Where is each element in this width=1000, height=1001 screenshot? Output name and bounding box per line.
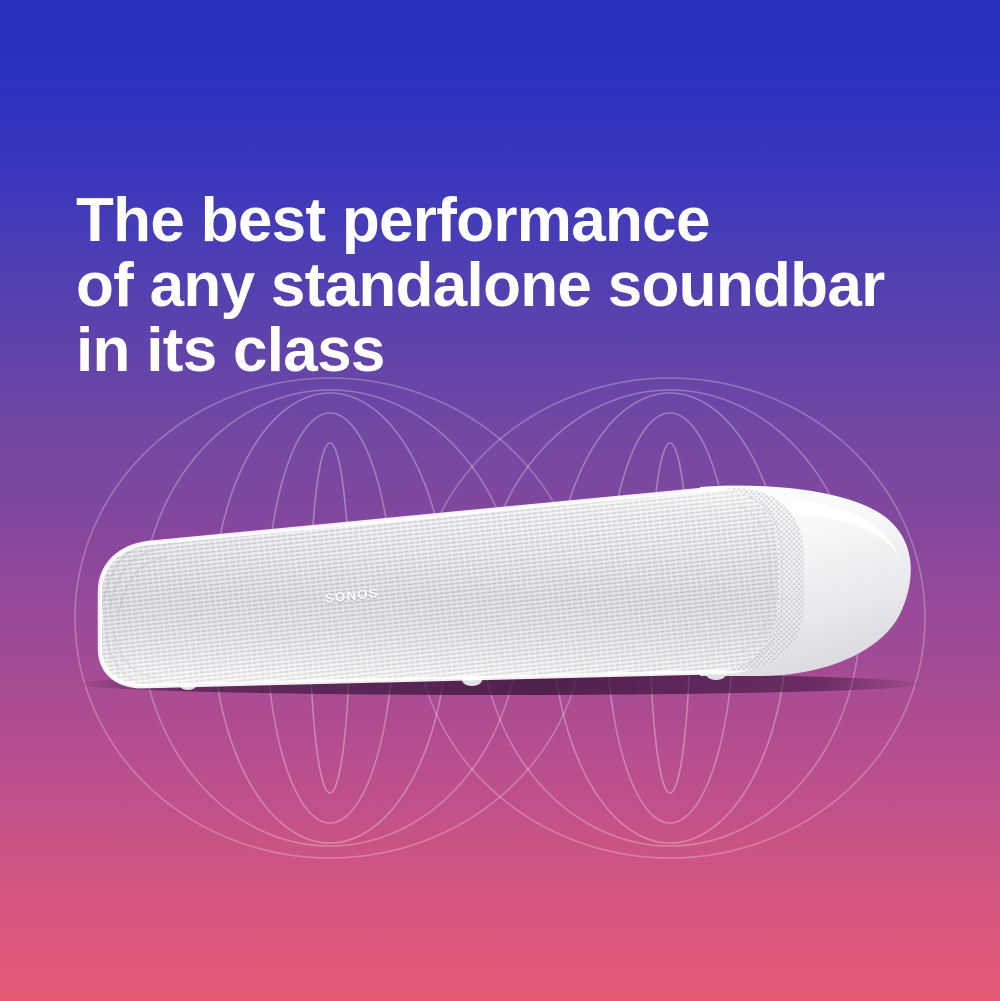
ring-group-right [415, 378, 925, 858]
promo-banner: The best performance of any standalone s… [0, 0, 1000, 1001]
product-image-sonos-soundbar: SONOS [0, 0, 1000, 1001]
product-shadow [80, 673, 920, 695]
soundbar-top-highlight [102, 488, 800, 584]
sonos-logo: SONOS [324, 585, 379, 606]
sound-ring [310, 443, 350, 793]
sound-ring [212, 393, 448, 843]
sound-ring [140, 390, 520, 846]
soundbar-body [700, 486, 911, 676]
ring-group-left [75, 378, 585, 858]
body-highlight [790, 500, 898, 556]
soundbar-grille [23, 375, 899, 842]
sound-ring [552, 393, 788, 843]
sound-ring [606, 413, 734, 823]
soundbar-end-cap [700, 470, 830, 690]
sound-ring [75, 378, 585, 858]
page-title: The best performance of any standalone s… [76, 188, 956, 383]
sound-wave-rings [0, 0, 1000, 1001]
sound-ring [650, 443, 690, 793]
sound-ring [266, 413, 394, 823]
sound-ring [415, 378, 925, 858]
sound-ring [480, 390, 860, 846]
soundbar-feet [179, 668, 726, 690]
